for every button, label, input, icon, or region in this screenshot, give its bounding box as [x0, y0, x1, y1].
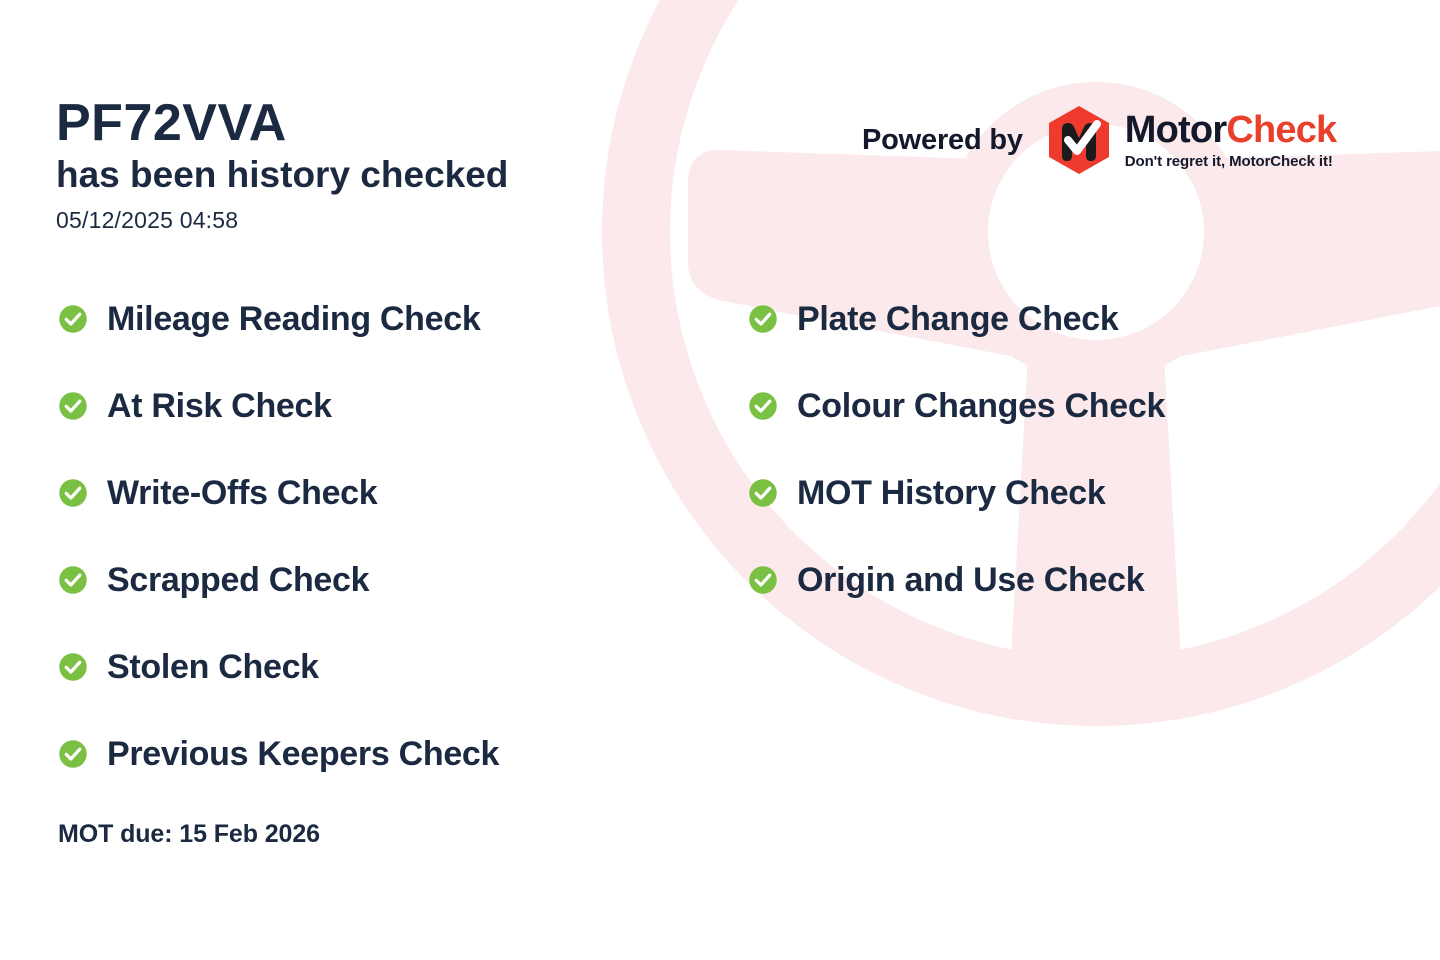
- header-subtitle: has been history checked: [56, 153, 696, 197]
- check-row: Mileage Reading Check: [58, 296, 499, 341]
- check-circle-icon: [58, 478, 88, 508]
- check-circle-icon: [58, 304, 88, 334]
- check-label: Stolen Check: [107, 650, 319, 684]
- check-label: Plate Change Check: [797, 302, 1119, 336]
- check-circle-icon: [748, 304, 778, 334]
- motorcheck-wordmark: MotorCheck Don't regret it, MotorCheck i…: [1125, 111, 1337, 170]
- check-circle-icon: [58, 739, 88, 769]
- history-check-card: PF72VVA has been history checked 05/12/2…: [0, 0, 1440, 960]
- check-circle-icon: [58, 391, 88, 421]
- check-row: Previous Keepers Check: [58, 731, 499, 776]
- mot-due-label: MOT due: 15 Feb 2026: [58, 820, 320, 849]
- check-circle-icon: [748, 478, 778, 508]
- powered-by-label: Powered by: [862, 124, 1023, 157]
- check-timestamp: 05/12/2025 04:58: [56, 207, 696, 234]
- check-row: Stolen Check: [58, 644, 499, 689]
- check-label: Scrapped Check: [107, 563, 369, 597]
- check-circle-icon: [58, 565, 88, 595]
- checks-column-right: Plate Change CheckColour Changes CheckMO…: [748, 296, 1165, 602]
- registration-plate: PF72VVA: [56, 96, 696, 151]
- check-label: MOT History Check: [797, 476, 1106, 510]
- wordmark-check: Check: [1226, 109, 1336, 151]
- check-row: At Risk Check: [58, 383, 499, 428]
- check-circle-icon: [748, 391, 778, 421]
- brand-tagline: Don't regret it, MotorCheck it!: [1125, 153, 1337, 170]
- powered-by-block: Powered by MotorCheck Don't regret it, M…: [862, 104, 1336, 176]
- motorcheck-hexagon-logo: [1045, 104, 1113, 176]
- check-row: MOT History Check: [748, 470, 1165, 515]
- check-row: Scrapped Check: [58, 557, 499, 602]
- check-circle-icon: [748, 565, 778, 595]
- check-row: Plate Change Check: [748, 296, 1165, 341]
- header-block: PF72VVA has been history checked 05/12/2…: [56, 96, 696, 234]
- check-label: Colour Changes Check: [797, 389, 1165, 423]
- wordmark-motor: Motor: [1125, 109, 1227, 151]
- checks-column-left: Mileage Reading CheckAt Risk CheckWrite-…: [58, 296, 499, 776]
- check-label: Previous Keepers Check: [107, 737, 499, 771]
- check-circle-icon: [58, 652, 88, 682]
- check-label: Mileage Reading Check: [107, 302, 480, 336]
- check-row: Colour Changes Check: [748, 383, 1165, 428]
- check-label: Write-Offs Check: [107, 476, 377, 510]
- check-label: Origin and Use Check: [797, 563, 1144, 597]
- check-label: At Risk Check: [107, 389, 332, 423]
- motorcheck-logo[interactable]: MotorCheck Don't regret it, MotorCheck i…: [1045, 104, 1337, 176]
- check-row: Write-Offs Check: [58, 470, 499, 515]
- check-row: Origin and Use Check: [748, 557, 1165, 602]
